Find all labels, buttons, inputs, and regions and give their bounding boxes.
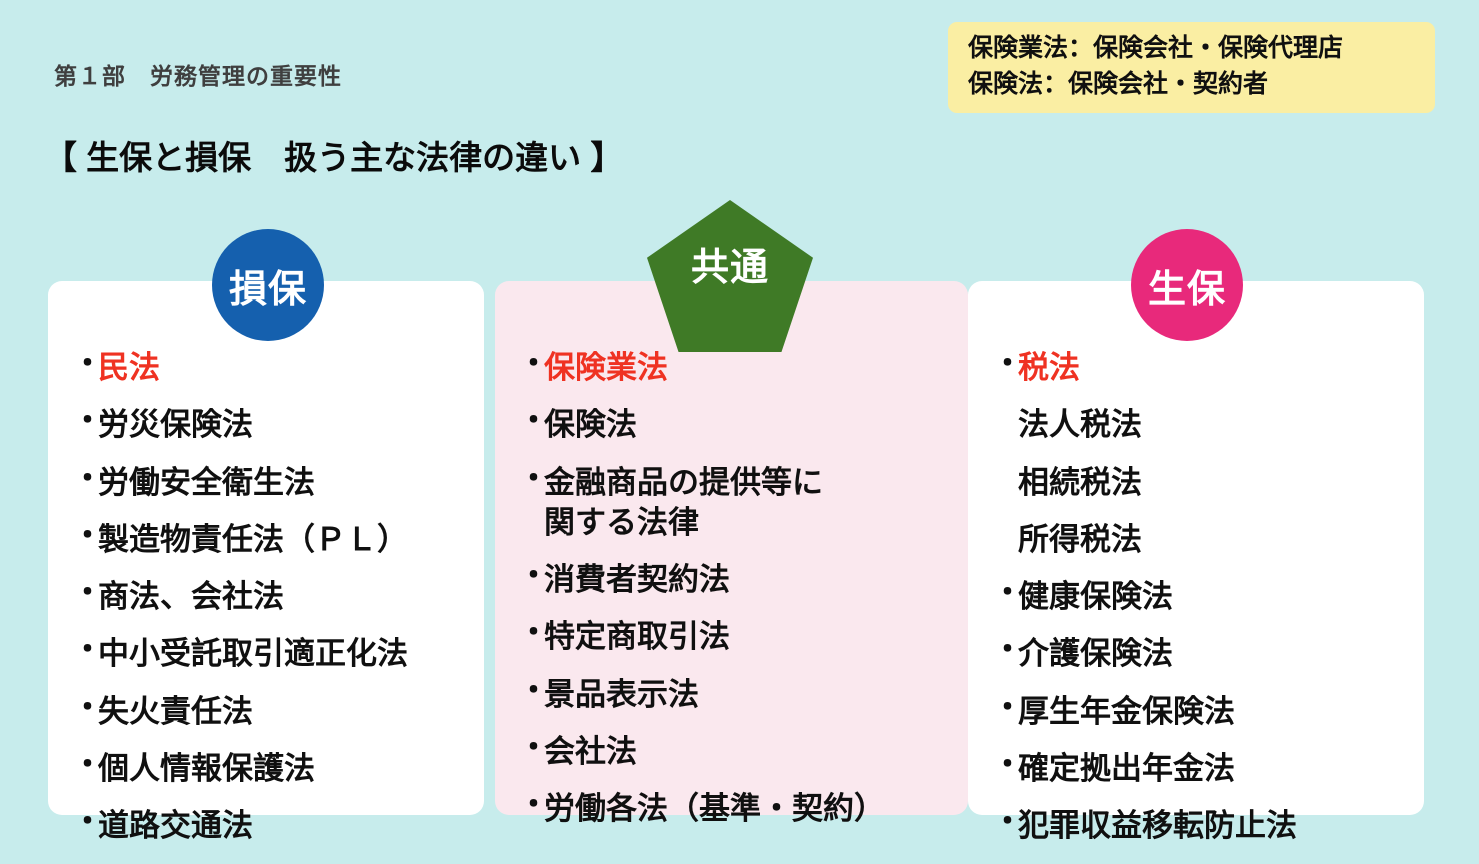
- law-list-item: ・保険業法: [518, 348, 968, 388]
- law-list-item: ・保険法: [518, 405, 968, 445]
- law-name-label: 中小受託取引適正化法: [98, 634, 492, 674]
- law-name-label: 保険業法: [544, 348, 968, 388]
- bullet-icon: ・: [992, 749, 1018, 780]
- badge-seiho: 生保: [1131, 229, 1243, 341]
- bullet-icon: ・: [518, 560, 544, 591]
- bullet-icon: ・: [518, 789, 544, 820]
- law-name-label: 商法、会社法: [98, 577, 492, 617]
- law-name-label: 民法: [98, 348, 492, 388]
- bullet-icon: ・: [518, 405, 544, 436]
- badge-kyotsu-label: 共通: [691, 236, 769, 291]
- law-list-item: ・厚生年金保険法: [992, 692, 1422, 732]
- bullet-icon: ・: [72, 348, 98, 379]
- law-name-label: 保険法: [544, 405, 968, 445]
- law-list-item: ・金融商品の提供等に 関する法律: [518, 463, 968, 544]
- law-name-label: 特定商取引法: [544, 617, 968, 657]
- bullet-icon: ・: [72, 749, 98, 780]
- law-name-label: 会社法: [544, 732, 968, 772]
- bullet-icon: ・: [992, 806, 1018, 837]
- bullet-icon: ・: [72, 463, 98, 494]
- law-name-label: 介護保険法: [1018, 634, 1422, 674]
- law-name-label: 健康保険法: [1018, 577, 1422, 617]
- bullet-icon: ・: [518, 617, 544, 648]
- badge-sonpo: 損保: [212, 229, 324, 341]
- law-list-item: ・労働安全衛生法: [72, 463, 492, 503]
- law-list-item: ・犯罪収益移転防止法: [992, 806, 1422, 846]
- bullet-icon: ・: [72, 806, 98, 837]
- bullet-icon: ・: [72, 634, 98, 665]
- law-name-label: 労働各法（基準・契約）: [544, 789, 968, 829]
- bullet-icon: ・: [72, 692, 98, 723]
- bullet-icon: ・: [992, 348, 1018, 379]
- law-list-item: ・健康保険法: [992, 577, 1422, 617]
- badge-kyotsu: 共通: [647, 200, 813, 352]
- law-name-label: 労働安全衛生法: [98, 463, 492, 503]
- law-list-item: ・相続税法: [992, 463, 1422, 503]
- law-name-label: 失火責任法: [98, 692, 492, 732]
- law-list-item: ・商法、会社法: [72, 577, 492, 617]
- law-list-item: ・労災保険法: [72, 405, 492, 445]
- bullet-icon: ・: [72, 520, 98, 551]
- law-list-item: ・中小受託取引適正化法: [72, 634, 492, 674]
- law-name-label: 製造物責任法（ＰＬ）: [98, 520, 492, 560]
- law-name-label: 税法: [1018, 348, 1422, 388]
- bullet-icon: ・: [992, 692, 1018, 723]
- law-name-label: 景品表示法: [544, 675, 968, 715]
- bullet-icon: ・: [992, 634, 1018, 665]
- law-name-label: 確定拠出年金法: [1018, 749, 1422, 789]
- law-name-label: 個人情報保護法: [98, 749, 492, 789]
- bullet-icon: ・: [518, 348, 544, 379]
- law-list-item: ・消費者契約法: [518, 560, 968, 600]
- law-list-sonpo: ・民法・労災保険法・労働安全衛生法・製造物責任法（ＰＬ）・商法、会社法・中小受託…: [72, 348, 492, 864]
- law-list-item: ・特定商取引法: [518, 617, 968, 657]
- bullet-icon: ・: [518, 675, 544, 706]
- law-name-label: 法人税法: [1018, 405, 1422, 445]
- bullet-icon: ・: [518, 732, 544, 763]
- law-list-item: ・会社法: [518, 732, 968, 772]
- bullet-icon: ・: [992, 577, 1018, 608]
- badge-sonpo-label: 損保: [229, 258, 307, 313]
- law-name-label: 金融商品の提供等に 関する法律: [544, 463, 968, 544]
- law-list-item: ・税法: [992, 348, 1422, 388]
- law-list-item: ・労働各法（基準・契約）: [518, 789, 968, 829]
- bullet-icon: ・: [518, 463, 544, 494]
- law-name-label: 厚生年金保険法: [1018, 692, 1422, 732]
- law-list-item: ・道路交通法: [72, 806, 492, 846]
- law-list-item: ・個人情報保護法: [72, 749, 492, 789]
- law-name-label: 犯罪収益移転防止法: [1018, 806, 1422, 846]
- law-list-seiho: ・税法・法人税法・相続税法・所得税法・健康保険法・介護保険法・厚生年金保険法・確…: [992, 348, 1422, 864]
- law-name-label: 道路交通法: [98, 806, 492, 846]
- law-list-item: ・民法: [72, 348, 492, 388]
- law-list-item: ・失火責任法: [72, 692, 492, 732]
- law-list-item: ・法人税法: [992, 405, 1422, 445]
- bullet-icon: ・: [72, 405, 98, 436]
- law-list-item: ・景品表示法: [518, 675, 968, 715]
- law-list-item: ・所得税法: [992, 520, 1422, 560]
- law-list-item: ・製造物責任法（ＰＬ）: [72, 520, 492, 560]
- law-name-label: 労災保険法: [98, 405, 492, 445]
- law-list-item: ・確定拠出年金法: [992, 749, 1422, 789]
- comparison-columns: 損保 共通 生保 ・民法・労災保険法・労働安全衛生法・製造物責任法（ＰＬ）・商法…: [0, 0, 1479, 830]
- law-name-label: 相続税法: [1018, 463, 1422, 503]
- badge-seiho-label: 生保: [1148, 258, 1226, 313]
- law-name-label: 消費者契約法: [544, 560, 968, 600]
- law-list-item: ・介護保険法: [992, 634, 1422, 674]
- bullet-icon: ・: [72, 577, 98, 608]
- law-name-label: 所得税法: [1018, 520, 1422, 560]
- law-list-kyotsu: ・保険業法・保険法・金融商品の提供等に 関する法律・消費者契約法・特定商取引法・…: [518, 348, 968, 847]
